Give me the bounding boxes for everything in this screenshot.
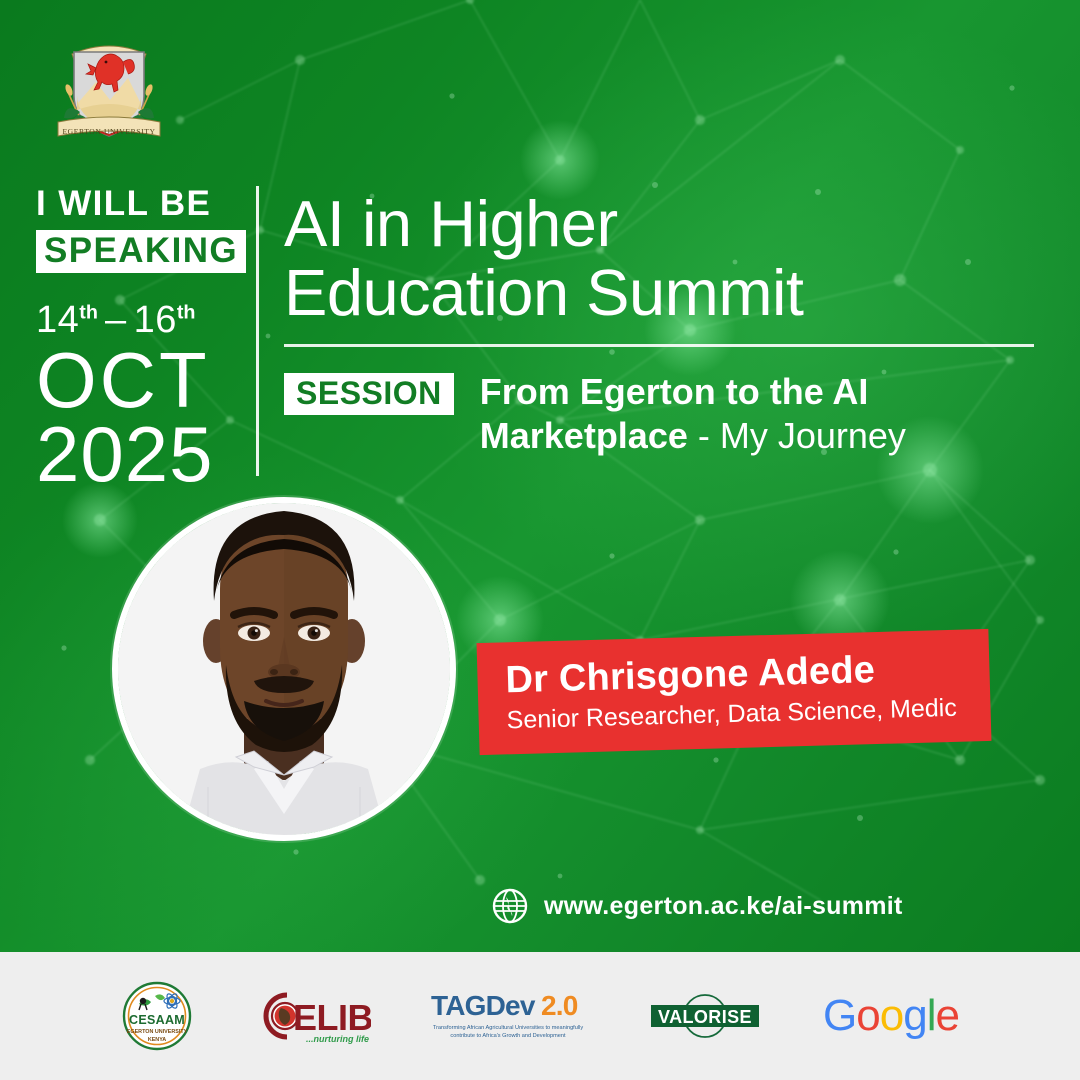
- speaker-name-banner: Dr Chrisgone Adede Senior Researcher, Da…: [477, 629, 992, 755]
- valorise-name: VALORISE: [658, 1007, 752, 1027]
- event-month: OCT: [36, 344, 248, 417]
- announcement-speaking-badge: SPEAKING: [36, 230, 246, 273]
- speaker-announcement-poster: EGERTON: [0, 0, 1080, 1080]
- partner-logo-cesaam: CESAAM EGERTON UNIVERSITY KENYA: [121, 980, 193, 1052]
- session-title-subtitle: - My Journey: [688, 415, 906, 456]
- event-title-line-1: AI in Higher: [284, 190, 1044, 259]
- day-end: 16: [134, 299, 177, 341]
- cesaam-sub1: EGERTON UNIVERSITY: [127, 1029, 188, 1035]
- title-underline-rule: [284, 344, 1034, 347]
- session-title-line-1: From Egerton to the AI: [480, 371, 869, 412]
- partner-logo-google: Google: [823, 991, 959, 1041]
- partner-logo-valorise: VALORISE: [645, 988, 765, 1044]
- partner-logo-tagdev: TAGDev 2.0 Transforming African Agricult…: [429, 985, 587, 1047]
- session-badge: SESSION: [284, 373, 454, 415]
- speaker-portrait: [112, 497, 456, 841]
- poster-green-background: EGERTON: [0, 0, 1080, 952]
- cesaam-name: CESAAM: [129, 1013, 185, 1027]
- google-logo-icon: Google: [823, 991, 959, 1041]
- tagdev-tagline-2: contribute to Africa's Growth and Develo…: [450, 1033, 566, 1039]
- announcement-line-1: I WILL BE: [36, 186, 248, 221]
- announcement-line-2: SPEAKING: [44, 233, 238, 268]
- elib-name: ELIB: [293, 997, 371, 1038]
- google-letter-o1: o: [856, 991, 879, 1040]
- globe-icon: [492, 888, 528, 924]
- tagdev-name: TAGDev: [431, 990, 536, 1021]
- website-row[interactable]: www.egerton.ac.ke/ai-summit: [492, 888, 903, 924]
- event-year: 2025: [36, 417, 248, 491]
- website-url: www.egerton.ac.ke/ai-summit: [544, 892, 903, 921]
- day-start-suffix: th: [79, 301, 98, 323]
- day-end-suffix: th: [177, 301, 196, 323]
- tagdev-tagline-1: Transforming African Agricultural Univer…: [433, 1025, 583, 1031]
- vertical-divider: [256, 186, 259, 476]
- google-letter-o2: o: [880, 991, 903, 1040]
- announcement-date-block: I WILL BE SPEAKING 14th–16th OCT 2025: [36, 186, 248, 491]
- session-title: From Egerton to the AI Marketplace - My …: [480, 370, 906, 458]
- partner-logo-strip: CESAAM EGERTON UNIVERSITY KENYA ELIB ...…: [0, 952, 1080, 1080]
- elib-tagline: ...nurturing life: [306, 1034, 369, 1044]
- event-title-line-2: Education Summit: [284, 259, 1044, 328]
- google-letter-g1: G: [823, 991, 856, 1040]
- session-badge-label: SESSION: [296, 377, 442, 409]
- portrait-ring: [112, 497, 456, 841]
- session-block: SESSION From Egerton to the AI Marketpla…: [284, 370, 1054, 458]
- google-letter-e: e: [935, 991, 958, 1040]
- tagdev-version: 2.0: [541, 990, 578, 1021]
- event-title-block: AI in Higher Education Summit: [284, 190, 1044, 347]
- egerton-university-crest-icon: EGERTON: [44, 18, 174, 148]
- cesaam-sub2: KENYA: [148, 1037, 166, 1043]
- partner-logo-elib: ELIB ...nurturing life: [251, 985, 371, 1047]
- session-title-line-2: Marketplace: [480, 415, 688, 456]
- day-start: 14: [36, 299, 79, 341]
- google-letter-g2: g: [903, 991, 926, 1040]
- svg-text:EGERTON UNIVERSITY: EGERTON UNIVERSITY: [62, 127, 155, 136]
